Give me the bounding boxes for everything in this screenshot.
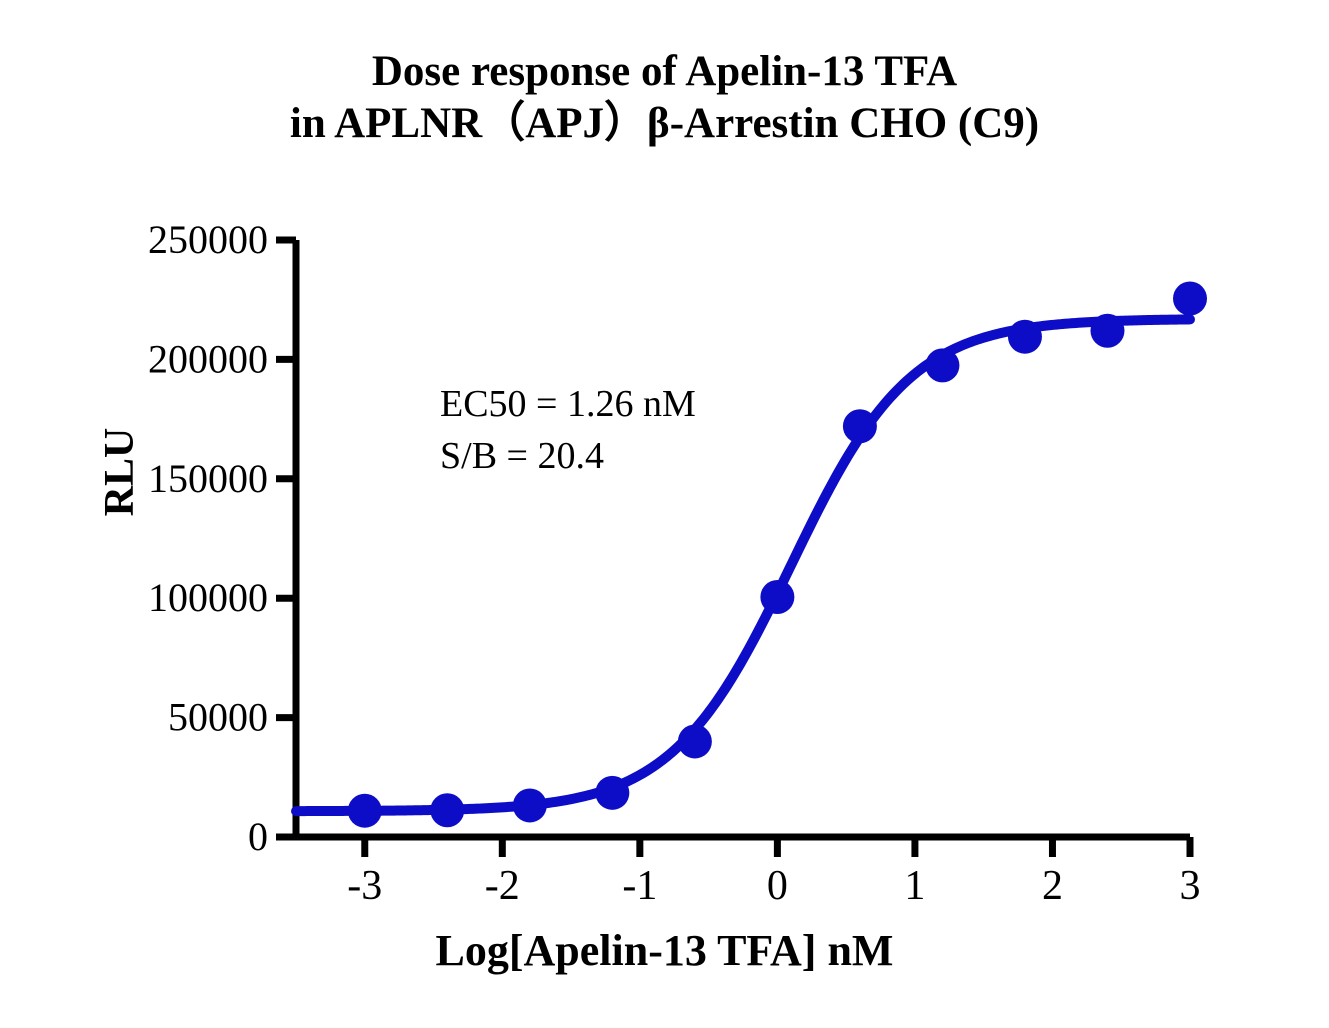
chart-title: Dose response of Apelin-13 TFA in APLNR（…	[0, 46, 1329, 150]
data-point	[1090, 314, 1124, 348]
data-point	[595, 776, 629, 810]
x-axis-tick-label: 3	[1180, 863, 1201, 909]
y-axis-tick-label: 100000	[148, 575, 268, 620]
y-axis-tick-label: 0	[248, 814, 268, 859]
y-axis-tick-label: 200000	[148, 336, 268, 381]
x-axis-title: Log[Apelin-13 TFA] nM	[0, 925, 1329, 976]
x-axis-tick-label: -2	[485, 863, 520, 909]
dose-response-curve	[296, 319, 1190, 811]
fit-curve-layer	[296, 319, 1190, 811]
tick-label-layer: 050000100000150000200000250000-3-2-10123	[148, 217, 1201, 909]
annotation-ec50: EC50 = 1.26 nM	[440, 378, 696, 430]
data-point	[1008, 320, 1042, 354]
data-point	[513, 788, 547, 822]
chart-title-line-1: Dose response of Apelin-13 TFA	[0, 46, 1329, 98]
chart-annotation: EC50 = 1.26 nM S/B = 20.4	[440, 378, 696, 482]
data-point	[843, 409, 877, 443]
y-axis-tick-label: 50000	[168, 695, 268, 740]
chart-title-line-2: in APLNR（APJ）β-Arrestin CHO (C9)	[0, 98, 1329, 150]
x-axis-tick-label: -1	[622, 863, 657, 909]
y-axis-tick-label: 250000	[148, 217, 268, 262]
data-point-layer	[348, 282, 1207, 828]
data-point	[925, 348, 959, 382]
data-point	[1173, 282, 1207, 316]
x-axis-tick-label: 0	[767, 863, 788, 909]
axis-layer	[276, 240, 1190, 857]
chart-figure: Dose response of Apelin-13 TFA in APLNR（…	[0, 0, 1329, 1028]
plot-canvas: 050000100000150000200000250000-3-2-10123	[0, 0, 1329, 1028]
y-axis-title: RLU	[96, 382, 144, 562]
data-point	[760, 580, 794, 614]
data-point	[430, 793, 464, 827]
y-axis-tick-label: 150000	[148, 456, 268, 501]
data-point	[348, 794, 382, 828]
x-axis-tick-label: 2	[1042, 863, 1063, 909]
annotation-signal-background: S/B = 20.4	[440, 430, 696, 482]
x-axis-tick-label: -3	[347, 863, 382, 909]
x-axis-tick-label: 1	[904, 863, 925, 909]
data-point	[678, 724, 712, 758]
